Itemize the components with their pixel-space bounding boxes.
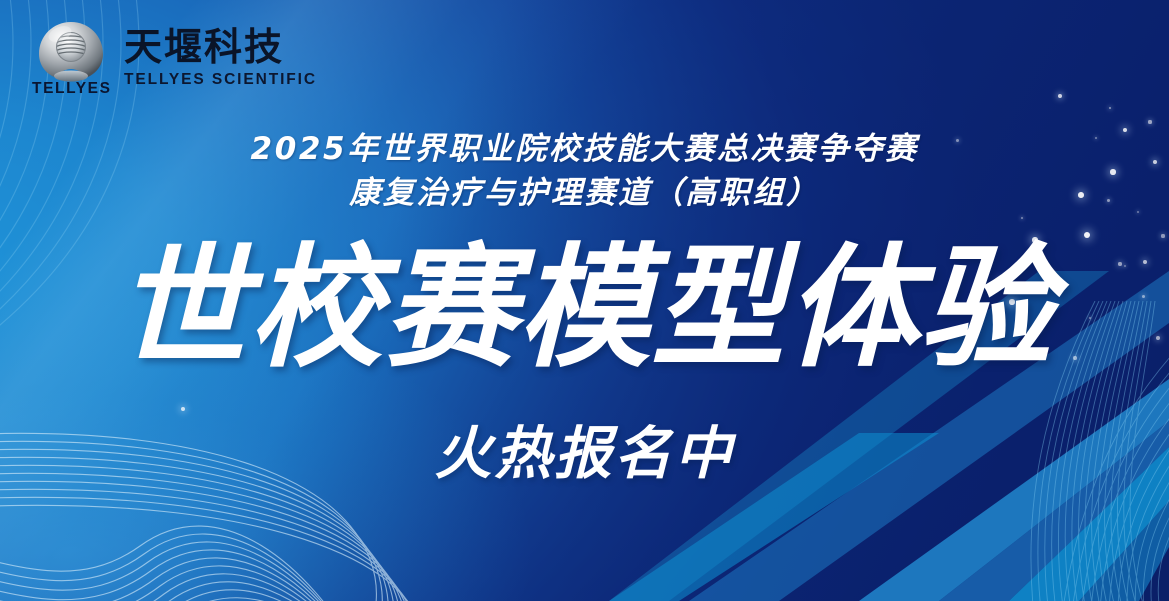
promotional-banner: TELLYES 天堰科技 TELLYES SCIENTIFIC 2025年世界职…	[0, 0, 1169, 601]
star-dot	[181, 407, 186, 412]
call-to-action-text: 火热报名中	[0, 426, 1169, 483]
brand-text: 天堰科技 TELLYES SCIENTIFIC	[124, 21, 317, 89]
subtitle-line-1: 2025年世界职业院校技能大赛总决赛争夺赛	[0, 123, 1169, 168]
brand-logo: TELLYES 天堰科技 TELLYES SCIENTIFIC	[32, 21, 317, 98]
company-name-cn: 天堰科技	[124, 28, 317, 66]
tellyes-wordmark: TELLYES	[32, 80, 110, 98]
star-dot	[1161, 234, 1164, 237]
company-name-en: TELLYES SCIENTIFIC	[124, 71, 317, 89]
star-dot	[1058, 94, 1062, 98]
tellyes-sphere-logo-icon: TELLYES	[32, 21, 110, 98]
headline-title: 世校赛模型体验	[0, 243, 1169, 376]
star-dot	[1021, 217, 1024, 220]
star-dot	[1109, 107, 1112, 110]
subtitle-line-2: 康复治疗与护理赛道（高职组）	[0, 167, 1169, 212]
star-dot	[1084, 232, 1090, 238]
